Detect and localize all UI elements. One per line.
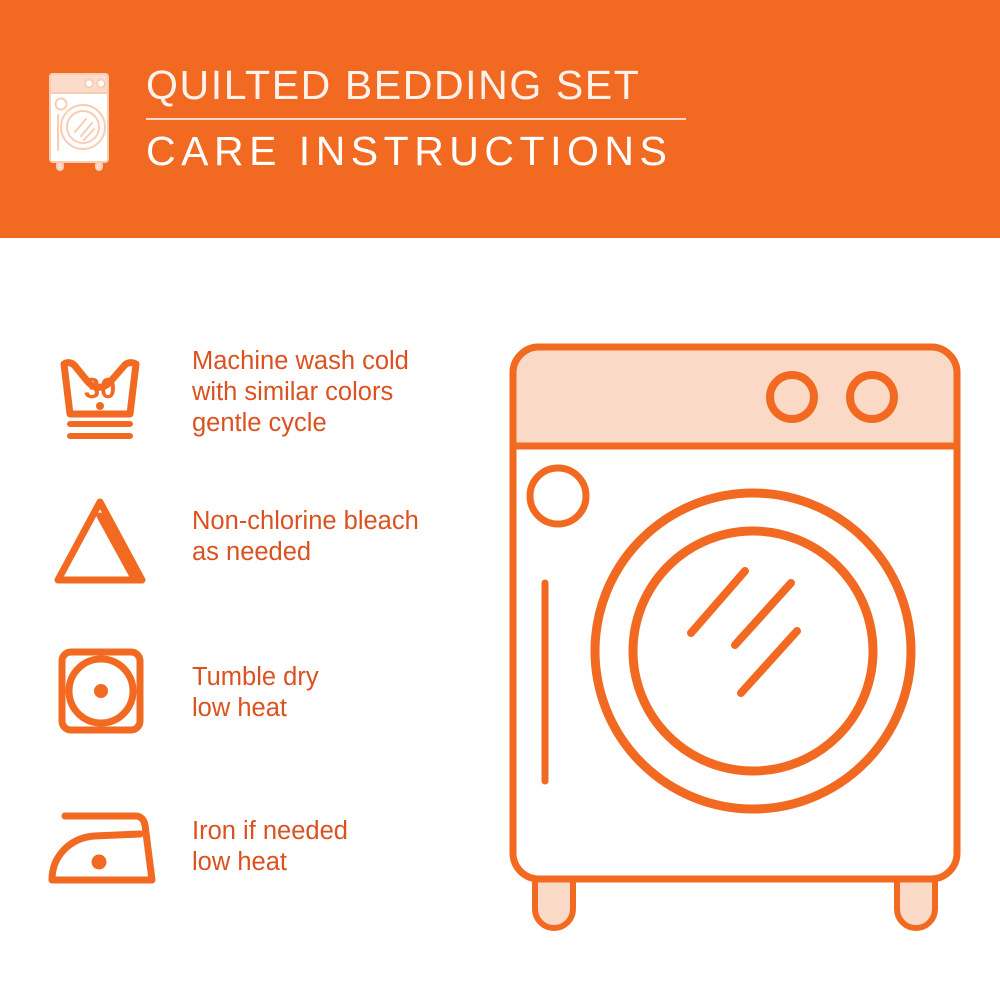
dial-right xyxy=(850,375,894,419)
care-text-tumble-dry: Tumble dry low heat xyxy=(192,634,319,724)
wash-temp-label: 30 xyxy=(84,373,116,405)
care-text-bleach: Non-chlorine bleach as needed xyxy=(192,484,419,568)
tumble-dry-low-heat-icon xyxy=(48,634,160,744)
care-row-bleach: Non-chlorine bleach as needed xyxy=(48,484,468,634)
page-subtitle: CARE INSTRUCTIONS xyxy=(146,128,686,174)
care-text-iron-line-1: Iron if needed xyxy=(192,816,348,847)
door-inner-ring xyxy=(633,531,873,771)
care-text-wash-line-3: gentle cycle xyxy=(192,408,409,439)
care-text-wash-line-2: with similar colors xyxy=(192,377,409,408)
page-header: QUILTED BEDDING SET CARE INSTRUCTIONS xyxy=(0,0,1000,238)
non-chlorine-bleach-triangle-icon xyxy=(48,484,160,596)
page-title: QUILTED BEDDING SET xyxy=(146,62,686,108)
care-text-bleach-line-1: Non-chlorine bleach xyxy=(192,506,419,537)
care-text-iron: Iron if needed low heat xyxy=(192,784,348,878)
iron-low-heat-icon xyxy=(48,784,160,904)
care-text-dry-line-1: Tumble dry xyxy=(192,662,319,693)
care-text-bleach-line-2: as needed xyxy=(192,537,419,568)
header-title-block: QUILTED BEDDING SET CARE INSTRUCTIONS xyxy=(146,62,686,174)
care-row-wash: 30 Machine wash cold with similar colors… xyxy=(48,334,468,484)
wash-tub-30-gentle-icon: 30 xyxy=(48,334,160,444)
care-text-wash-line-1: Machine wash cold xyxy=(192,346,409,377)
page-content: 30 Machine wash cold with similar colors… xyxy=(0,238,1000,1000)
washing-machine-icon xyxy=(44,68,118,172)
care-text-iron-line-2: low heat xyxy=(192,847,348,878)
dial-left xyxy=(770,375,814,419)
title-divider xyxy=(146,118,686,120)
care-row-tumble-dry: Tumble dry low heat xyxy=(48,634,468,784)
header-content: QUILTED BEDDING SET CARE INSTRUCTIONS xyxy=(44,62,686,174)
care-text-dry-line-2: low heat xyxy=(192,693,319,724)
detergent-circle xyxy=(530,468,586,524)
care-instruction-list: 30 Machine wash cold with similar colors… xyxy=(48,334,468,934)
care-text-wash: Machine wash cold with similar colors ge… xyxy=(192,334,409,439)
large-washing-machine-illustration xyxy=(495,333,975,933)
care-row-iron: Iron if needed low heat xyxy=(48,784,468,934)
